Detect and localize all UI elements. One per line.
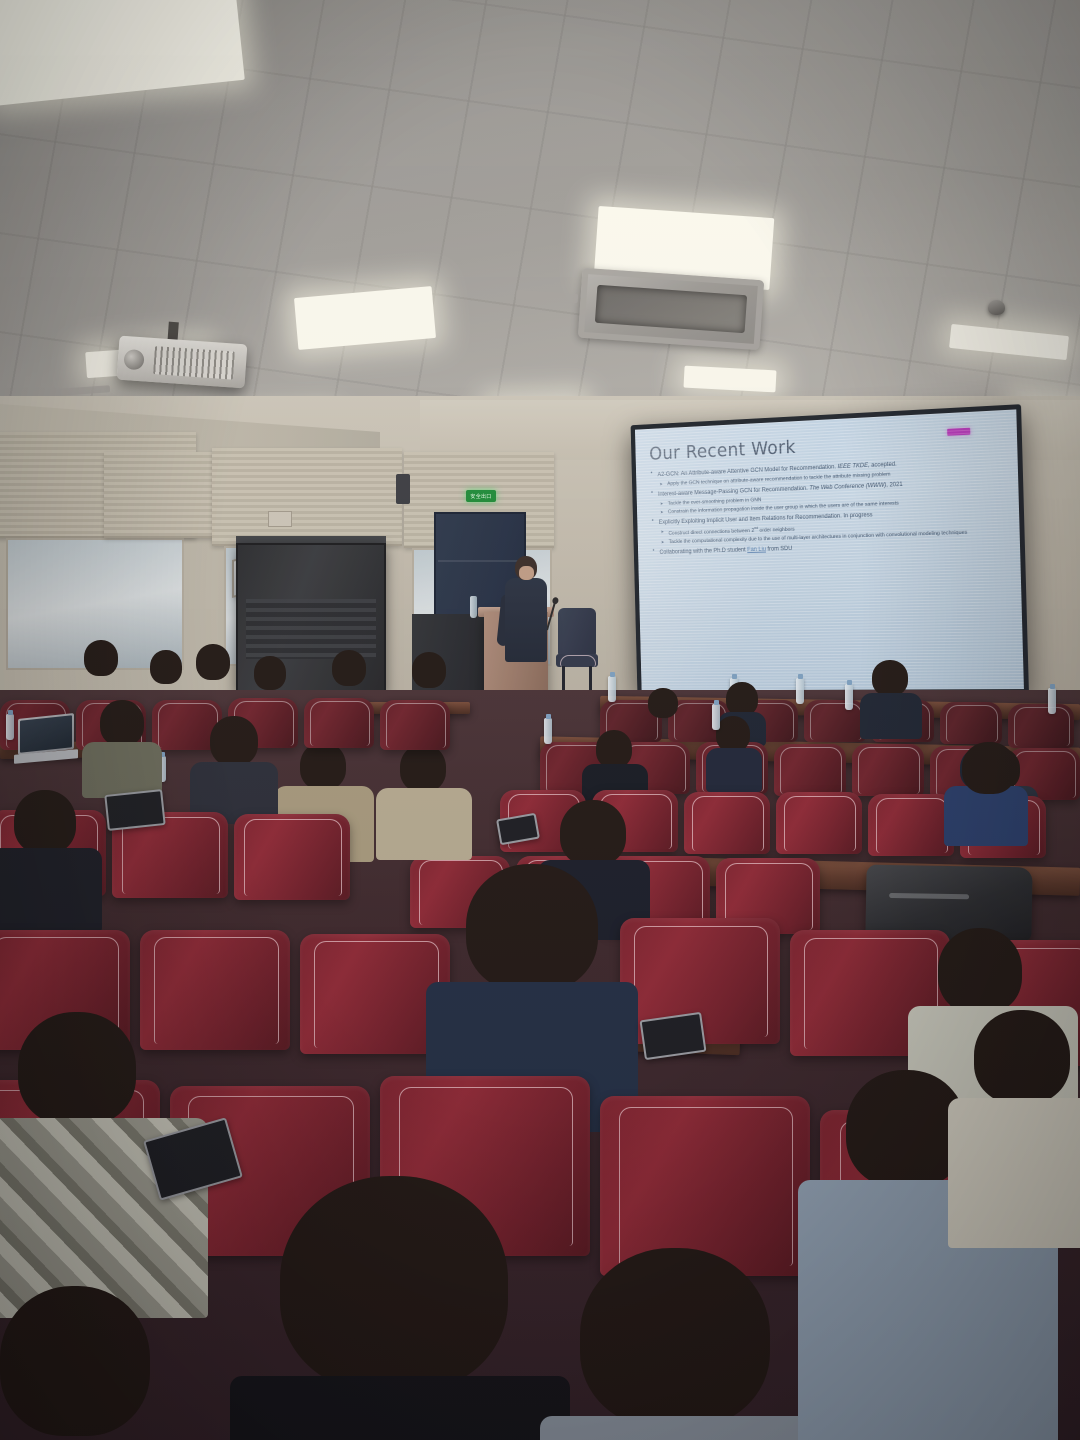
wall-speaker bbox=[396, 474, 410, 504]
audience-head bbox=[196, 644, 230, 680]
audience-head bbox=[716, 716, 750, 752]
audience-torso bbox=[376, 788, 472, 860]
stage-chair bbox=[556, 608, 598, 690]
water-bottle bbox=[712, 704, 720, 730]
auditorium-seat bbox=[140, 930, 290, 1050]
ceiling-projector bbox=[117, 336, 248, 389]
audience-torso bbox=[860, 693, 922, 739]
audience-head bbox=[14, 790, 76, 854]
water-bottle bbox=[544, 718, 552, 744]
projector-vent-grill bbox=[153, 346, 235, 380]
security-camera-icon bbox=[988, 300, 1005, 315]
auditorium-seat bbox=[940, 702, 1002, 744]
audience-head bbox=[962, 742, 1016, 794]
exit-sign-label: 安全出口 bbox=[470, 493, 491, 500]
audience-head bbox=[412, 652, 446, 688]
audience-head bbox=[400, 744, 446, 792]
water-bottle bbox=[1048, 688, 1056, 714]
auditorium-seat bbox=[600, 1096, 810, 1276]
audience-head bbox=[938, 928, 1022, 1014]
speaker-face bbox=[519, 566, 534, 580]
audience-head bbox=[280, 1176, 508, 1392]
audience-head bbox=[332, 650, 366, 686]
audience-torso bbox=[948, 1098, 1080, 1248]
chair-back bbox=[558, 608, 596, 656]
chair-leg bbox=[589, 666, 592, 692]
auditorium-seat bbox=[1008, 704, 1074, 748]
audience-head bbox=[0, 1286, 150, 1436]
audience-torso bbox=[540, 1416, 820, 1440]
ceiling-light-panel bbox=[683, 366, 776, 393]
presentation-slide: Our Recent Work A2-GCN: An Attribute-awa… bbox=[635, 409, 1024, 690]
audience-head bbox=[872, 660, 908, 696]
audience-torso bbox=[944, 786, 1028, 846]
audience-head bbox=[580, 1248, 770, 1428]
slide-bullet-list: A2-GCN: An Attribute-aware Attentive GCN… bbox=[650, 456, 1007, 557]
auditorium-seat bbox=[380, 700, 450, 750]
tablet-device[interactable] bbox=[104, 789, 165, 831]
water-bottle bbox=[845, 684, 853, 710]
water-bottle bbox=[796, 678, 804, 704]
door-panel-line bbox=[438, 560, 522, 562]
tablet-device[interactable] bbox=[640, 1012, 707, 1060]
audience-head bbox=[726, 682, 758, 716]
slide-accent-bar bbox=[947, 428, 970, 436]
chair-leg bbox=[562, 666, 565, 692]
ceiling-ac-cassette bbox=[578, 268, 764, 351]
audience-torso bbox=[230, 1376, 570, 1440]
window-blind bbox=[212, 448, 402, 546]
projection-screen: Our Recent Work A2-GCN: An Attribute-awa… bbox=[631, 404, 1029, 695]
audience-head bbox=[210, 716, 258, 766]
wall-switch-plate[interactable] bbox=[268, 511, 292, 527]
audience-head bbox=[254, 656, 286, 690]
audience-head bbox=[300, 742, 346, 790]
auditorium-seat bbox=[684, 792, 770, 854]
auditorium-seat bbox=[234, 814, 350, 900]
audience-head bbox=[560, 800, 626, 866]
auditorium-seat bbox=[776, 792, 862, 854]
water-bottle bbox=[6, 714, 14, 740]
audience-head bbox=[974, 1010, 1070, 1104]
auditorium-seat bbox=[852, 744, 924, 796]
screen-surface: Our Recent Work A2-GCN: An Attribute-awa… bbox=[635, 409, 1024, 690]
audience-head bbox=[84, 640, 118, 676]
water-bottle bbox=[470, 596, 477, 618]
audience-head bbox=[648, 688, 678, 718]
audience-head bbox=[18, 1012, 136, 1126]
audience-torso bbox=[0, 848, 102, 932]
speaker-torso bbox=[505, 578, 547, 662]
audience-head bbox=[100, 700, 144, 746]
auditorium-seat bbox=[868, 794, 954, 856]
audience-head bbox=[466, 864, 598, 992]
laptop-screen bbox=[18, 713, 74, 755]
water-bottle bbox=[608, 676, 616, 702]
lecture-hall-photo: 安全出口 Our Recent Work A2-GCN: An Attribut… bbox=[0, 0, 1080, 1440]
audience-head bbox=[596, 730, 632, 768]
projector-lens-icon bbox=[123, 349, 144, 370]
auditorium-seat bbox=[774, 744, 846, 796]
window-blind bbox=[104, 452, 214, 538]
audience-torso bbox=[706, 748, 762, 792]
auditorium-seat bbox=[304, 698, 374, 748]
auditorium-seat bbox=[804, 700, 866, 742]
emergency-exit-sign: 安全出口 bbox=[466, 490, 496, 502]
audience-head bbox=[150, 650, 182, 684]
